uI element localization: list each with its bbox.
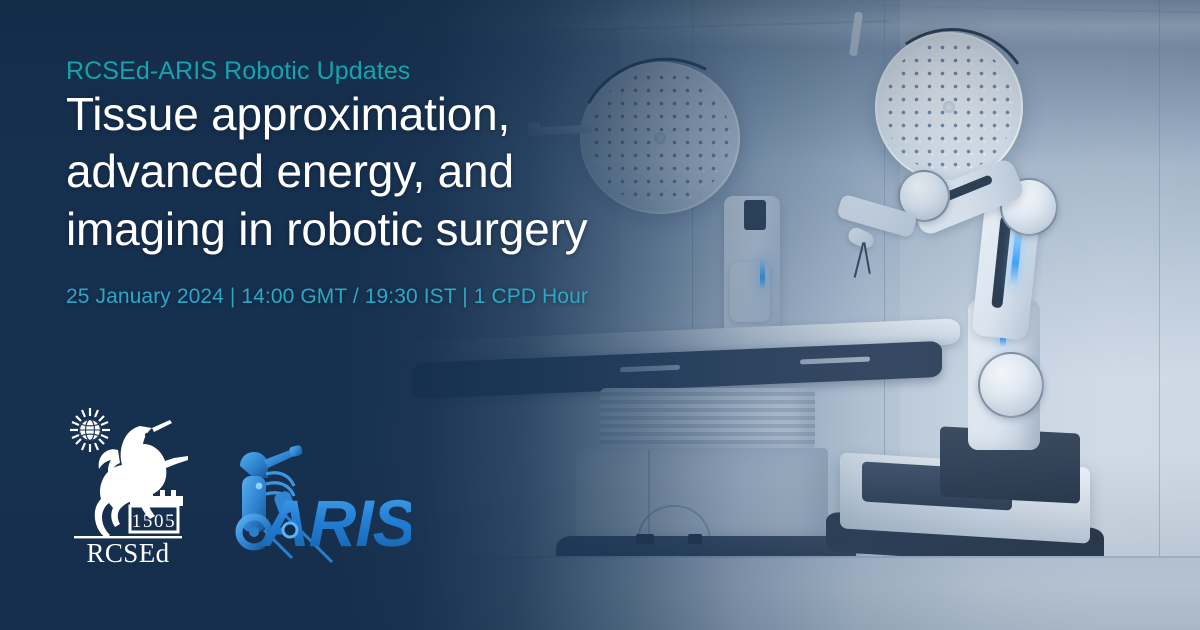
event-datetime: 25 January 2024 | 14:00 GMT / 19:30 IST … xyxy=(66,285,666,309)
sun-globe-icon xyxy=(70,408,110,452)
unicorn-horn xyxy=(152,420,172,432)
event-banner: RCSEd-ARIS Robotic Updates Tissue approx… xyxy=(0,0,1200,630)
logo-row: 1505 RCSEd xyxy=(66,404,411,571)
aris-logo: ARIS xyxy=(226,434,411,571)
text-block: RCSEd-ARIS Robotic Updates Tissue approx… xyxy=(66,58,666,309)
founded-year: 1505 xyxy=(132,511,176,532)
castle-1505-icon: 1505 xyxy=(130,490,183,532)
aris-wordmark: ARIS xyxy=(260,486,411,560)
headline-line-1: Tissue approximation, xyxy=(66,86,666,144)
rcsed-wordmark: RCSEd xyxy=(86,538,169,566)
rcsed-logo: 1505 RCSEd xyxy=(66,404,190,571)
headline-line-2: advanced energy, and xyxy=(66,143,666,201)
aris-joint-dot xyxy=(283,523,297,537)
headline-line-3: imaging in robotic surgery xyxy=(66,201,666,259)
page-title: Tissue approximation, advanced energy, a… xyxy=(66,86,666,260)
series-eyebrow: RCSEd-ARIS Robotic Updates xyxy=(66,58,666,86)
